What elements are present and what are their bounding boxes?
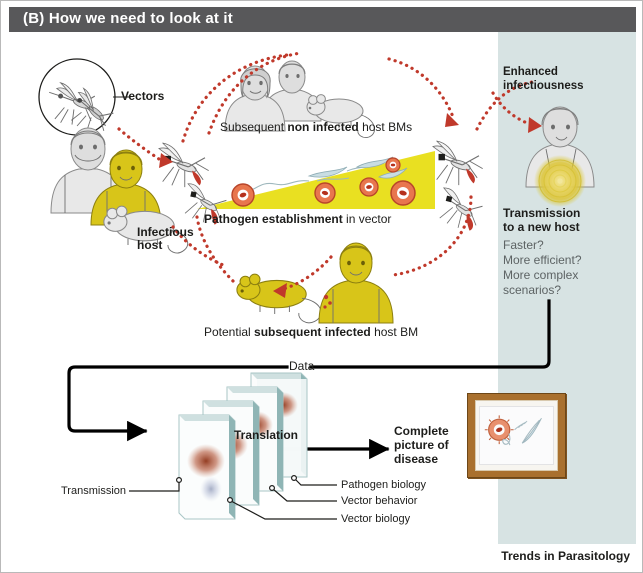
pathogen-establishment-label: Pathogen establishment in vector <box>204 213 391 226</box>
subsequent-bold: non infected <box>287 120 358 134</box>
potential-suffix: host BM <box>371 325 418 339</box>
journal-credit: Trends in Parasitology <box>501 549 630 563</box>
potential-prefix: Potential <box>204 325 254 339</box>
slide-label-vector-biology: Vector biology <box>341 513 410 526</box>
transmission-slide-label: Transmission <box>61 485 126 498</box>
enhanced-infectiousness-line1: Enhanced <box>503 66 558 79</box>
frame-mat <box>479 406 554 465</box>
subsequent-suffix: host BMs <box>359 120 412 134</box>
question-more-efficient: More efficient? <box>503 254 582 267</box>
slide-label-pathogen-biology: Pathogen biology <box>341 479 426 492</box>
question-more-complex: More complex <box>503 269 578 282</box>
subsequent-prefix: Subsequent <box>220 120 287 134</box>
figure-panel-b: (B) How we need to look at it <box>0 0 643 573</box>
pathogen-establishment-suffix: in vector <box>343 212 392 226</box>
complete-picture-line3: disease <box>394 453 438 466</box>
complete-picture-line2: picture of <box>394 439 449 452</box>
slide-label-vector-behavior: Vector behavior <box>341 495 417 508</box>
question-faster: Faster? <box>503 239 544 252</box>
vectors-label: Vectors <box>121 90 164 103</box>
subsequent-non-infected-label: Subsequent non infected host BMs <box>220 121 412 134</box>
complete-picture-frame <box>467 393 566 478</box>
complete-picture-line1: Complete <box>394 425 449 438</box>
transmission-new-host-line2: to a new host <box>503 221 580 234</box>
infectious-host-label-line2: host <box>137 239 162 252</box>
frame-artwork <box>480 407 553 464</box>
transmission-new-host-line1: Transmission <box>503 207 580 220</box>
question-scenarios: scenarios? <box>503 284 561 297</box>
potential-bold: subsequent infected <box>254 325 371 339</box>
potential-subsequent-label: Potential subsequent infected host BM <box>204 326 418 339</box>
pathogen-establishment-bold: Pathogen establishment <box>204 212 343 226</box>
data-label: Data <box>289 360 314 373</box>
enhanced-infectiousness-line2: infectiousness <box>503 80 584 93</box>
translation-label: Translation <box>234 429 298 442</box>
